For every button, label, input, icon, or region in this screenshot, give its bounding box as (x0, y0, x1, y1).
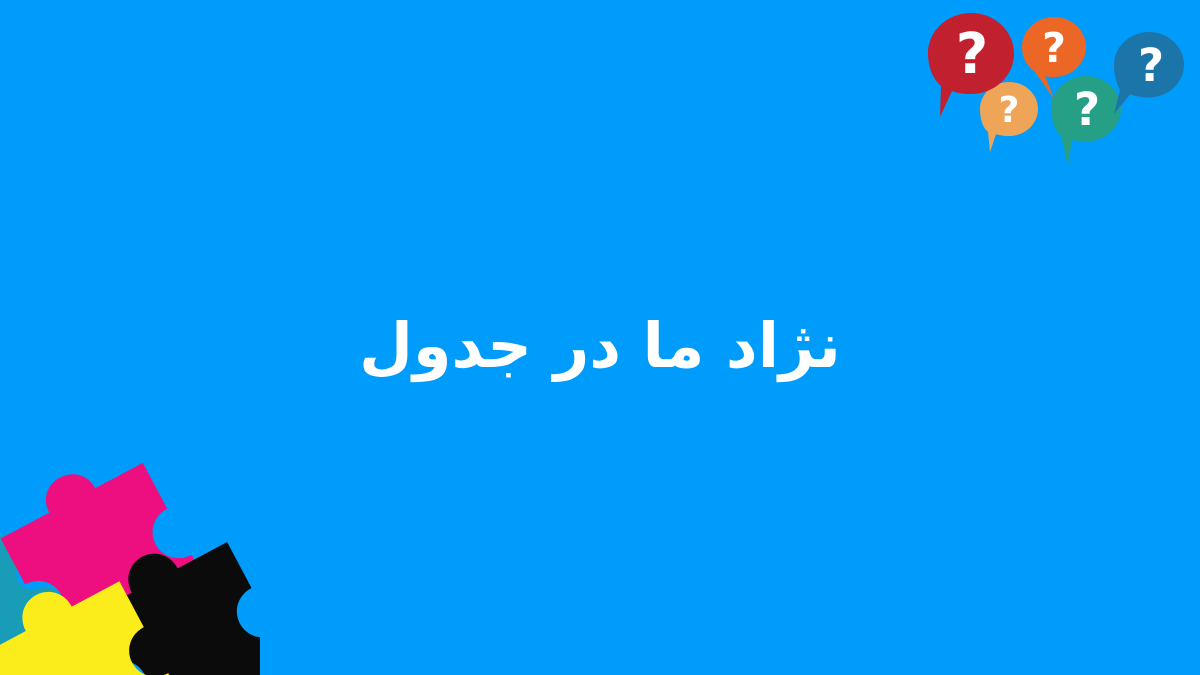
red-bubble-question-icon: ? (956, 22, 988, 87)
teal-bubble: ? (1051, 76, 1121, 168)
speech-bubble-decoration: ? ? ? ? ? (900, 0, 1200, 180)
blue-bubble: ? (1114, 32, 1184, 124)
slide-title: نژاد ما در جدول (359, 307, 841, 385)
teal-bubble-question-icon: ? (1074, 83, 1100, 136)
blue-bubble-question-icon: ? (1138, 39, 1164, 92)
slide-canvas: ? ? ? ? ? (0, 0, 1200, 675)
red-bubble: ? (928, 13, 1014, 121)
orange-bubble-question-icon: ? (1042, 24, 1066, 72)
puzzle-decoration (0, 460, 260, 675)
puzzle-svg (0, 460, 260, 675)
